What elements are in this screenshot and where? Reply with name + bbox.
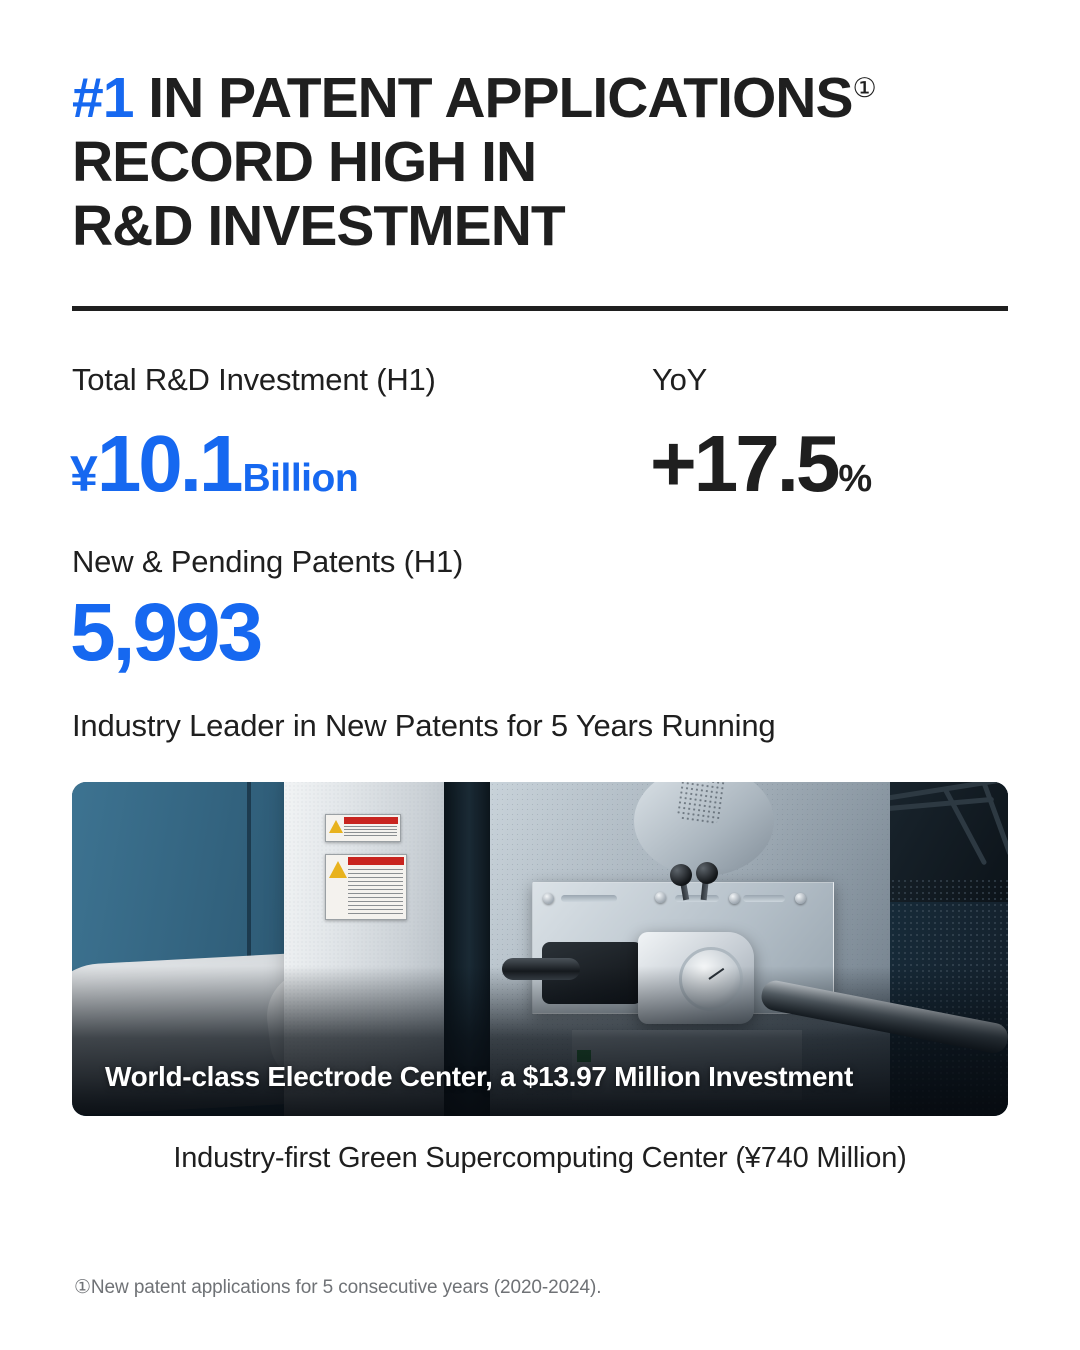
headline-line-3: R&D INVESTMENT (72, 194, 1032, 258)
percent-symbol: % (838, 458, 871, 501)
yen-symbol: ¥ (70, 445, 97, 503)
bolt (543, 893, 554, 904)
warning-label-top (325, 814, 401, 842)
rd-investment-label: Total R&D Investment (H1) (72, 362, 436, 398)
footnote: ①New patent applications for 5 consecuti… (74, 1275, 601, 1301)
cable-strand (981, 782, 1008, 856)
rd-investment-number: 10.1 (97, 424, 241, 504)
slot (561, 895, 617, 902)
bolt (655, 892, 666, 903)
photo-subcaption: Industry-first Green Supercomputing Cent… (0, 1140, 1080, 1176)
headline-line-1-text: IN PATENT APPLICATIONS (133, 66, 852, 130)
photo-caption: World-class Electrode Center, a $13.97 M… (105, 1060, 853, 1094)
warning-header-bar (348, 857, 404, 865)
headline-line-2: RECORD HIGH IN (72, 130, 1032, 194)
rd-investment-unit: Billion (243, 457, 359, 501)
warning-triangle-icon (329, 820, 343, 833)
electrode-center-photo: World-class Electrode Center, a $13.97 M… (72, 782, 1008, 1116)
patents-subline: Industry Leader in New Patents for 5 Yea… (72, 707, 775, 745)
warning-label-bottom (325, 854, 407, 920)
patents-label: New & Pending Patents (H1) (72, 544, 463, 580)
yoy-label: YoY (652, 362, 707, 398)
warning-header-bar (344, 817, 398, 824)
warning-text-lines (344, 826, 397, 838)
yoy-number: +17.5 (650, 424, 837, 504)
footnote-marker-superscript: ① (852, 73, 876, 103)
headline-rank-accent: #1 (72, 66, 133, 130)
bolt (795, 893, 806, 904)
slot (743, 895, 785, 902)
page-title: #1 IN PATENT APPLICATIONS① RECORD HIGH I… (72, 66, 1032, 258)
control-knob (696, 862, 718, 884)
section-divider (72, 306, 1008, 311)
yoy-value: +17.5 % (650, 424, 872, 504)
warning-triangle-icon (329, 861, 347, 878)
bolt (729, 893, 740, 904)
warning-text-lines (348, 869, 403, 916)
control-knob (670, 864, 692, 886)
patents-value: 5,993 (70, 592, 260, 674)
headline-line-1: #1 IN PATENT APPLICATIONS① (72, 66, 1032, 130)
rd-investment-value: ¥ 10.1 Billion (70, 424, 358, 504)
infographic-page: #1 IN PATENT APPLICATIONS① RECORD HIGH I… (0, 0, 1080, 1350)
